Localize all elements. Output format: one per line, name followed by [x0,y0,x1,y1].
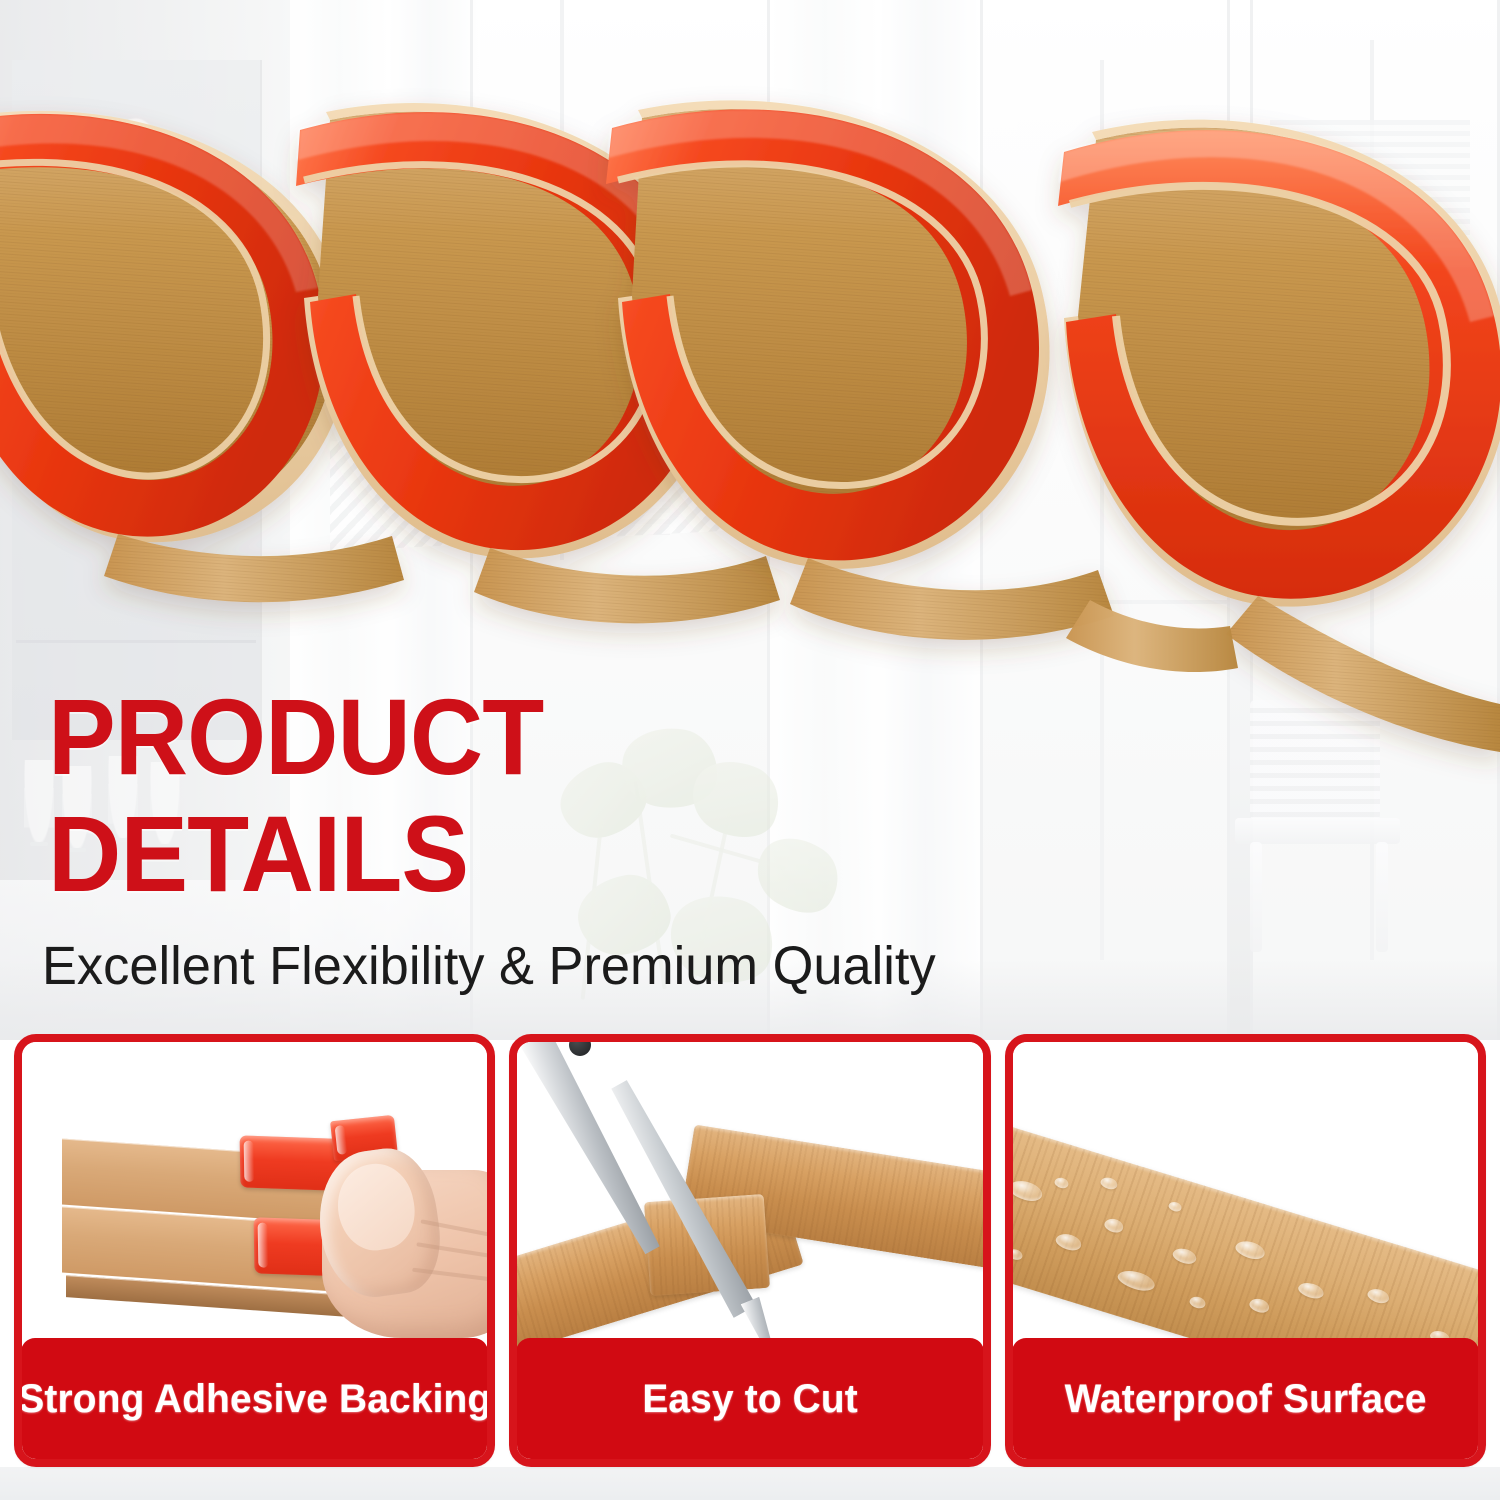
water-droplet [1099,1176,1118,1191]
coil-connector [1066,600,1238,672]
water-droplet [1103,1217,1125,1235]
panel-caption-waterproof: Waterproof Surface [1012,1338,1479,1460]
title-line-1: PRODUCT [48,686,762,789]
water-droplet [1248,1296,1271,1314]
backdrop-chair-leg [1376,842,1388,952]
water-droplet [1296,1280,1325,1301]
title-line-2: DETAILS [48,803,762,906]
water-droplet [1233,1238,1266,1262]
feature-panel-easy-to-cut[interactable]: Easy to Cut [509,1034,990,1467]
feature-panel-adhesive[interactable]: Strong Adhesive Backing [14,1034,495,1467]
panel-caption-label: Waterproof Surface [1064,1377,1426,1422]
water-droplet [1171,1246,1198,1266]
coil-loop-3 [606,100,1114,640]
water-droplet [1188,1295,1207,1310]
scissor-pivot [569,1042,591,1056]
water-droplet [1054,1231,1083,1253]
water-droplet [1053,1176,1069,1190]
panel-caption-cut: Easy to Cut [516,1338,983,1460]
feature-panel-waterproof[interactable]: Waterproof Surface [1005,1034,1486,1467]
water-droplet [1115,1267,1156,1294]
bottom-strip [0,1467,1500,1500]
page-subtitle: Excellent Flexibility & Premium Quality [42,938,1206,995]
water-droplet [1167,1200,1182,1212]
panel-caption-label: Easy to Cut [642,1377,858,1422]
feature-panels: Strong Adhesive Backing Easy to Cut [14,1034,1486,1467]
panel-caption-label: Strong Adhesive Backing [18,1377,491,1422]
water-droplet [1013,1247,1024,1261]
page-title: PRODUCT DETAILS [48,686,808,905]
backdrop-chair-seat [1235,818,1400,844]
water-droplet [1366,1287,1391,1306]
water-droplet [1013,1177,1045,1204]
product-details-poster: PRODUCT DETAILS Excellent Flexibility & … [0,0,1500,1500]
backdrop-chair-leg [1250,842,1262,952]
panel-caption-adhesive: Strong Adhesive Backing [21,1338,488,1460]
